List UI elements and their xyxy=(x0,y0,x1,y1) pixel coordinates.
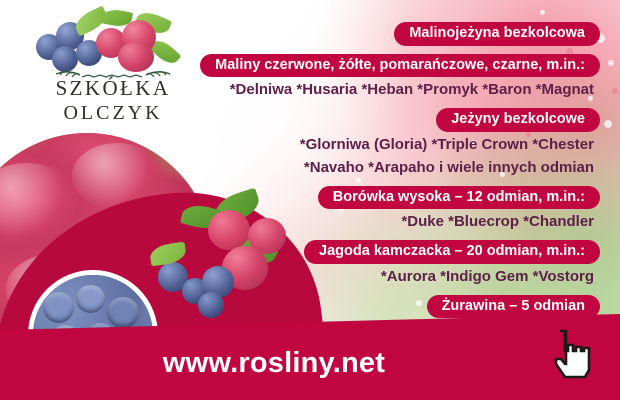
promo-banner: SZKÓŁKA OLCZYK Malinojeżyna bezkolcowa M… xyxy=(0,0,620,400)
offer-row: Jeżyny bezkolcowe xyxy=(180,108,600,132)
offer-text: *Glorniwa (Gloria) *Triple Crown *Cheste… xyxy=(180,135,600,155)
offer-row: *Glorniwa (Gloria) *Triple Crown *Cheste… xyxy=(180,135,600,155)
offer-row: *Duke *Bluecrop *Chandler xyxy=(180,212,600,232)
offer-text: *Navaho *Arapaho i wiele innych odmian xyxy=(180,158,600,178)
offer-row: *Aurora *Indigo Gem *Vostorg xyxy=(180,267,600,287)
offers-list: Malinojeżyna bezkolcowa Maliny czerwone,… xyxy=(180,22,600,321)
offer-row: Jagoda kamczacka – 20 odmian, m.in.: xyxy=(180,240,600,264)
offer-row: Borówka wysoka – 12 odmian, m.in.: xyxy=(180,186,600,210)
offer-pill: Borówka wysoka – 12 odmian, m.in.: xyxy=(318,186,600,210)
offer-pill: Żurawina – 5 odmian xyxy=(427,295,600,319)
offer-text: *Delniwa *Husaria *Heban *Promyk *Baron … xyxy=(180,80,600,100)
offer-row: Malinojeżyna bezkolcowa xyxy=(180,22,600,46)
offer-text: *Duke *Bluecrop *Chandler xyxy=(180,212,600,232)
offer-pill: Malinojeżyna bezkolcowa xyxy=(394,22,600,46)
pointing-hand-cursor-icon xyxy=(546,329,592,386)
offer-row: *Navaho *Arapaho i wiele innych odmian xyxy=(180,158,600,178)
offer-row: Żurawina – 5 odmian xyxy=(180,295,600,319)
offer-row: *Delniwa *Husaria *Heban *Promyk *Baron … xyxy=(180,80,600,100)
offer-row: Maliny czerwone, żółte, pomarańczowe, cz… xyxy=(180,54,600,78)
website-url[interactable]: www.rosliny.net xyxy=(0,347,620,380)
offer-pill: Jagoda kamczacka – 20 odmian, m.in.: xyxy=(304,240,600,264)
offer-pill: Maliny czerwone, żółte, pomarańczowe, cz… xyxy=(200,54,600,78)
offer-text: *Aurora *Indigo Gem *Vostorg xyxy=(180,267,600,287)
offer-pill: Jeżyny bezkolcowe xyxy=(436,108,600,132)
